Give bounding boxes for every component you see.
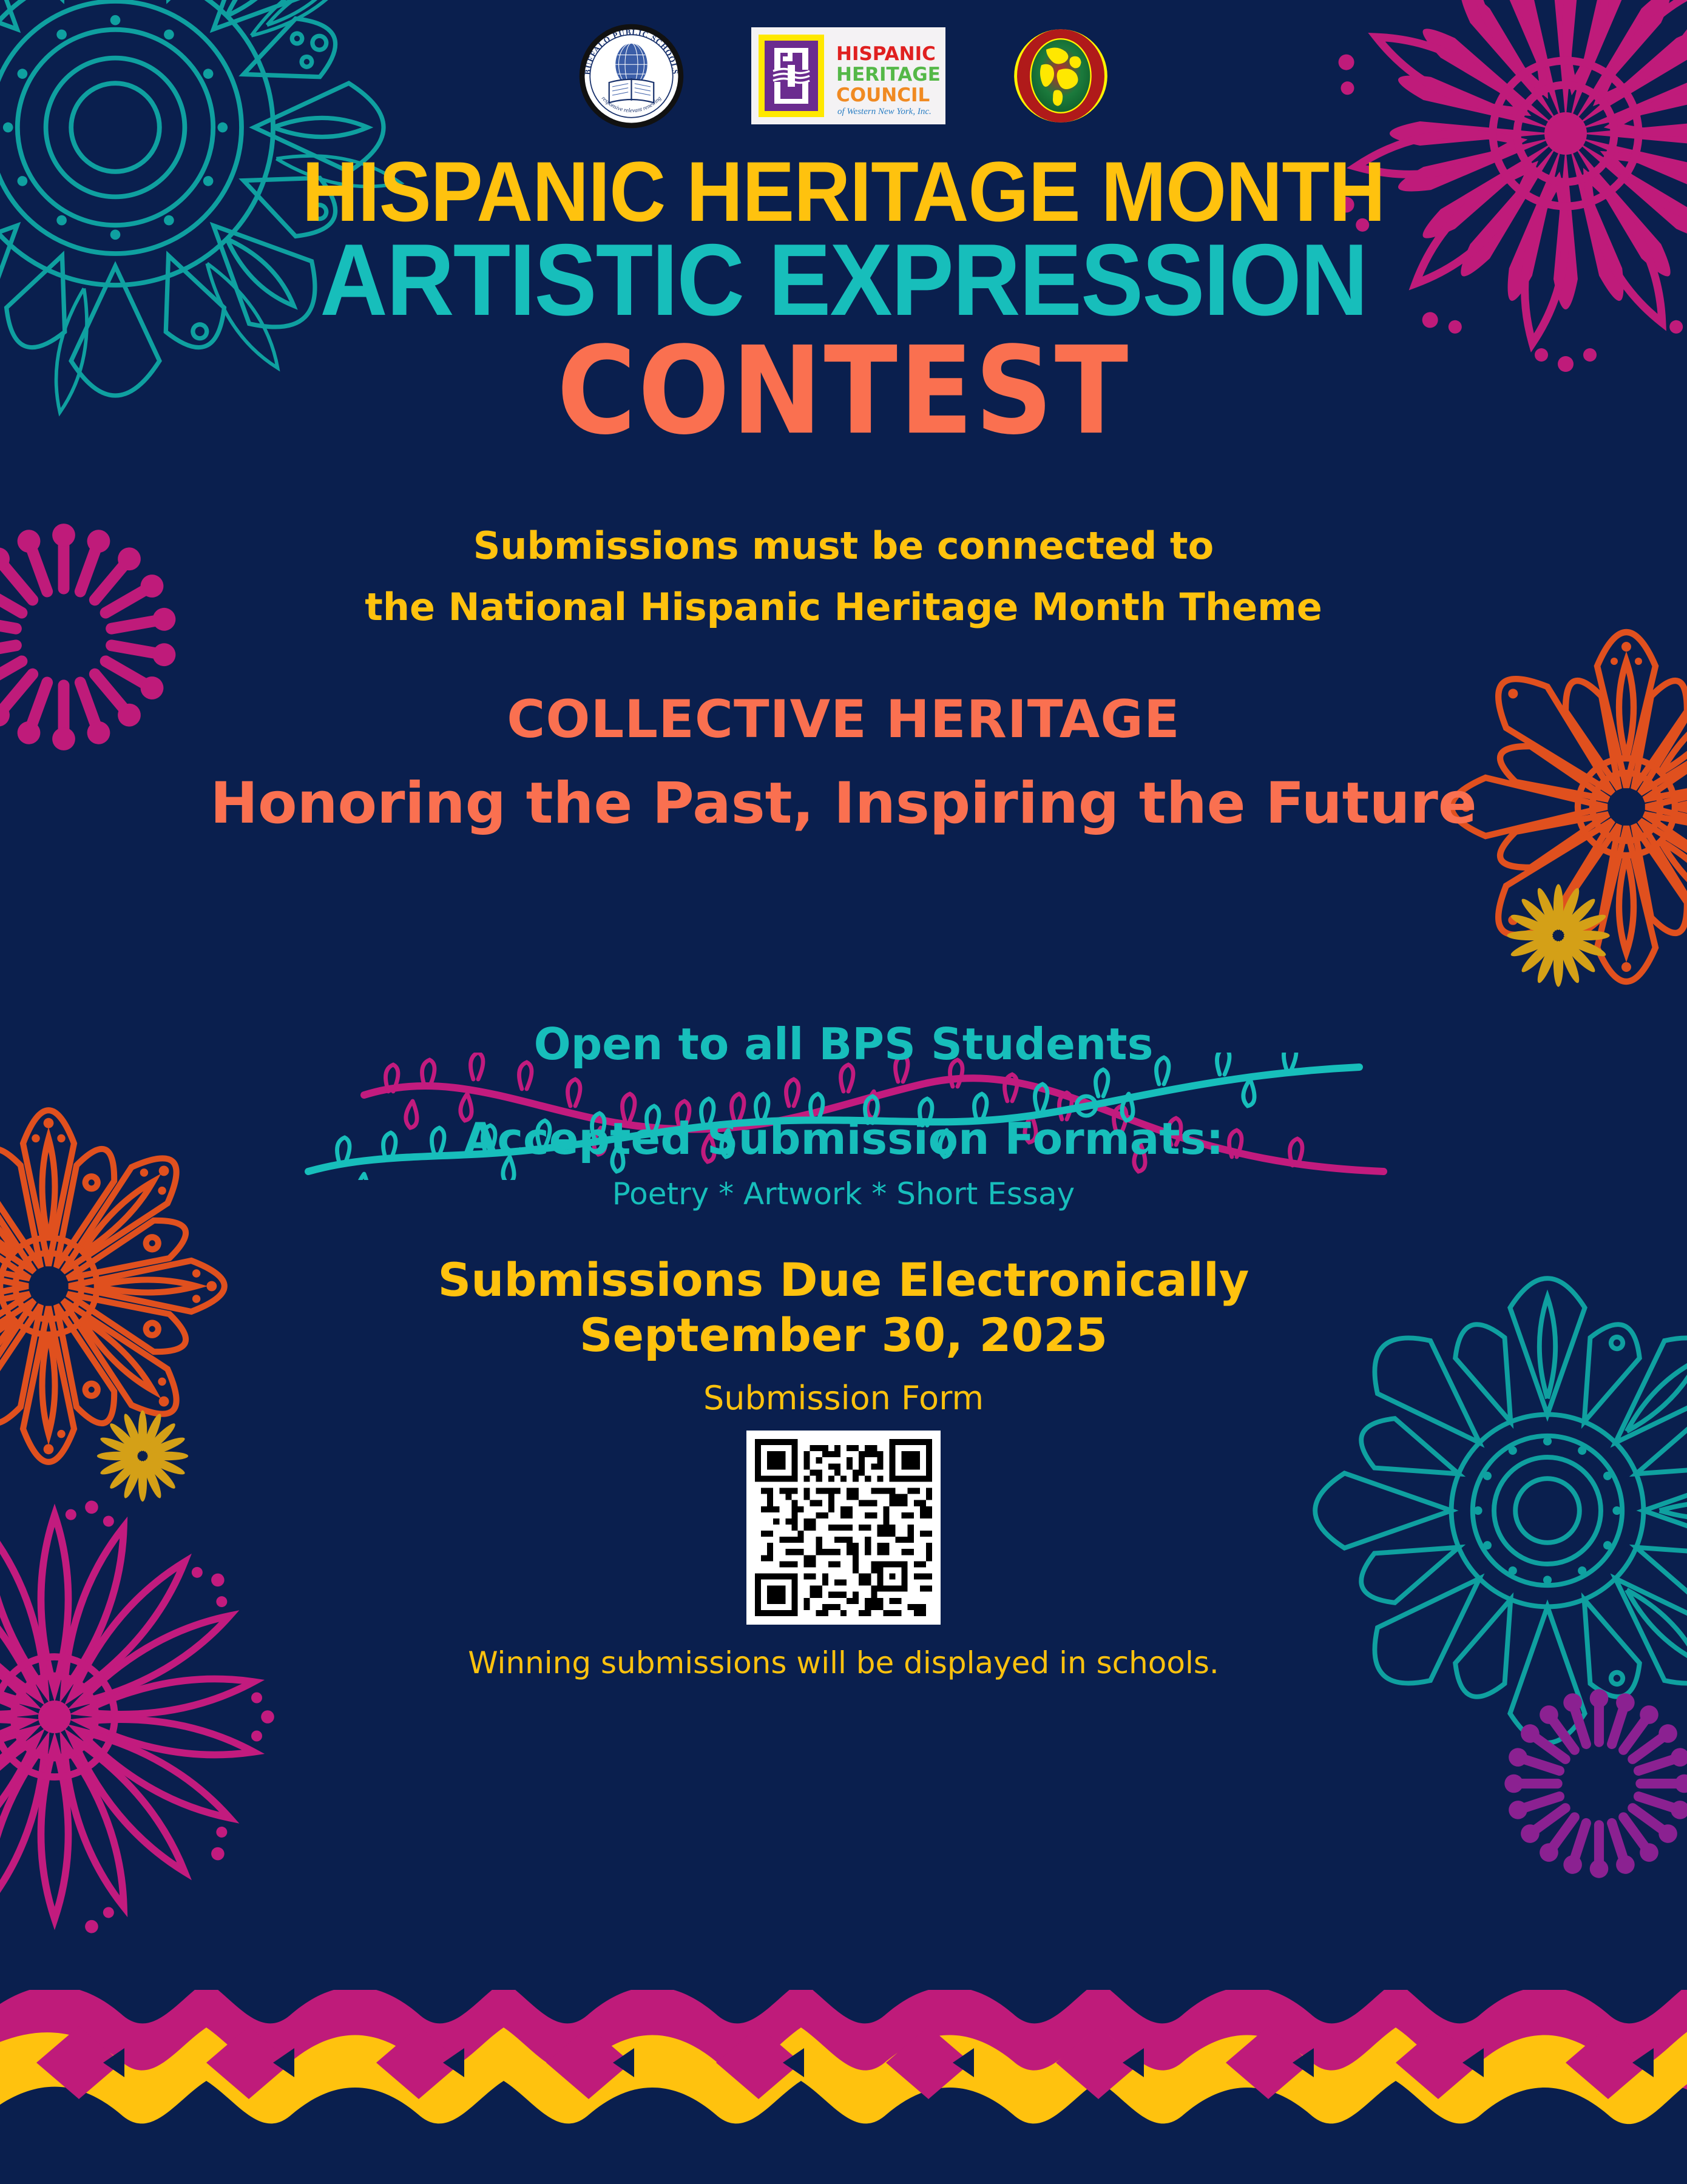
theme-title: COLLECTIVE HERITAGE (0, 689, 1687, 750)
submission-note-line-2: the National Hispanic Heritage Month The… (0, 585, 1687, 629)
title-line-contest: CONTEST (0, 322, 1687, 452)
submission-note-line-1: Submissions must be connected to (0, 524, 1687, 568)
ocli-logo: OFFICE OF CULTURALLY & LINGUISTICALLY RE… (1012, 27, 1109, 124)
submission-form-label: Submission Form (0, 1379, 1687, 1417)
hhc-line-2: HERITAGE (836, 64, 941, 86)
bottom-chevron-border (0, 1990, 1687, 2184)
buffalo-public-schools-logo: BUFFALO PUBLIC SCHOOLS responsive releva… (578, 23, 685, 129)
vine-spacer (0, 837, 1687, 1019)
formats-list: Poetry * Artwork * Short Essay (0, 1176, 1687, 1212)
due-date: September 30, 2025 (0, 1308, 1687, 1362)
logo-row: BUFFALO PUBLIC SCHOOLS responsive releva… (0, 18, 1687, 133)
poster-content: HISPANIC HERITAGE MONTH ARTISTIC EXPRESS… (0, 0, 1687, 1680)
hhc-line-3: COUNCIL (836, 84, 930, 106)
title-line-artistic-expression: ARTISTIC EXPRESSION (67, 232, 1620, 329)
poster-canvas: BUFFALO PUBLIC SCHOOLS responsive releva… (0, 0, 1687, 2184)
submission-note-block: Submissions must be connected to the Nat… (0, 445, 1687, 629)
hhc-line-4: of Western New York, Inc. (837, 107, 931, 116)
pinburst-right-purple (1490, 1674, 1687, 1893)
hhc-line-1: HISPANIC (836, 43, 936, 65)
hispanic-heritage-council-logo: HISPANIC HERITAGE COUNCIL of Western New… (751, 27, 945, 124)
formats-heading: Accepted Submission Formats: (0, 1113, 1687, 1164)
footer-note: Winning submissions will be displayed in… (0, 1645, 1687, 1680)
due-heading: Submissions Due Electronically (0, 1254, 1687, 1306)
eligibility-text: Open to all BPS Students (0, 1019, 1687, 1070)
theme-subtitle: Honoring the Past, Inspiring the Future (0, 770, 1687, 837)
theme-block: COLLECTIVE HERITAGE Honoring the Past, I… (0, 647, 1687, 837)
submission-form-qr-code[interactable] (746, 1431, 941, 1625)
